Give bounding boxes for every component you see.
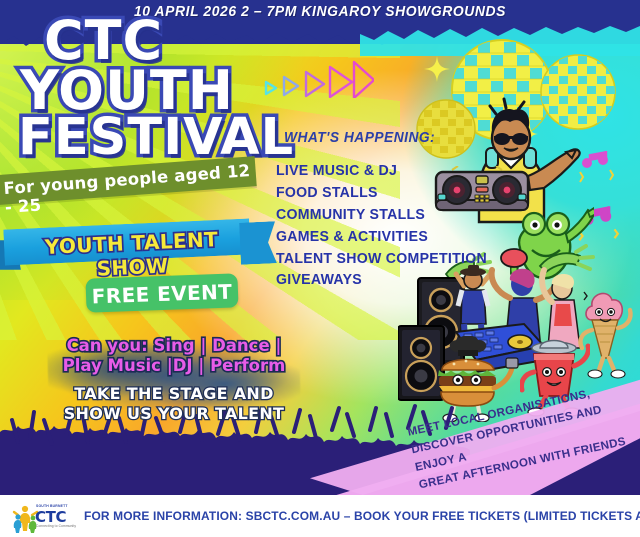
list-item: GIVEAWAYS	[276, 269, 487, 291]
list-item: COMMUNITY STALLS	[276, 204, 487, 226]
whats-happening-list: LIVE MUSIC & DJ FOOD STALLS COMMUNITY ST…	[276, 160, 487, 291]
list-item: TALENT SHOW COMPETITION	[276, 248, 487, 270]
list-item: GAMES & ACTIVITIES	[276, 226, 487, 248]
whats-happening-heading: WHAT'S HAPPENING:	[284, 130, 435, 146]
list-item: LIVE MUSIC & DJ	[276, 160, 487, 182]
list-item: FOOD STALLS	[276, 182, 487, 204]
take-stage-line-1: TAKE THE STAGE AND	[52, 384, 296, 404]
can-you-line-1: Can you: Sing | Dance |	[52, 336, 296, 356]
footer-info-text: FOR MORE INFORMATION: SBCTC.COM.AU – BOO…	[84, 509, 640, 523]
can-you-text: Can you: Sing | Dance | Play Music |DJ |…	[52, 336, 296, 376]
title-line-3: FESTIVAL	[18, 115, 278, 162]
event-poster: 10 APRIL 2026 2 – 7PM KINGAROY SHOWGROUN…	[0, 0, 640, 537]
poster-title: CTC YOUTH FESTIVAL	[18, 16, 278, 162]
take-stage-line-2: SHOW US YOUR TALENT	[52, 404, 296, 424]
icecream-character	[578, 286, 636, 386]
logo-tagline: Connecting to Community	[36, 524, 76, 528]
sparkle-icon	[424, 56, 450, 82]
take-stage-text: TAKE THE STAGE AND SHOW US YOUR TALENT	[52, 384, 296, 424]
can-you-line-2: Play Music |DJ | Perform	[52, 356, 296, 376]
